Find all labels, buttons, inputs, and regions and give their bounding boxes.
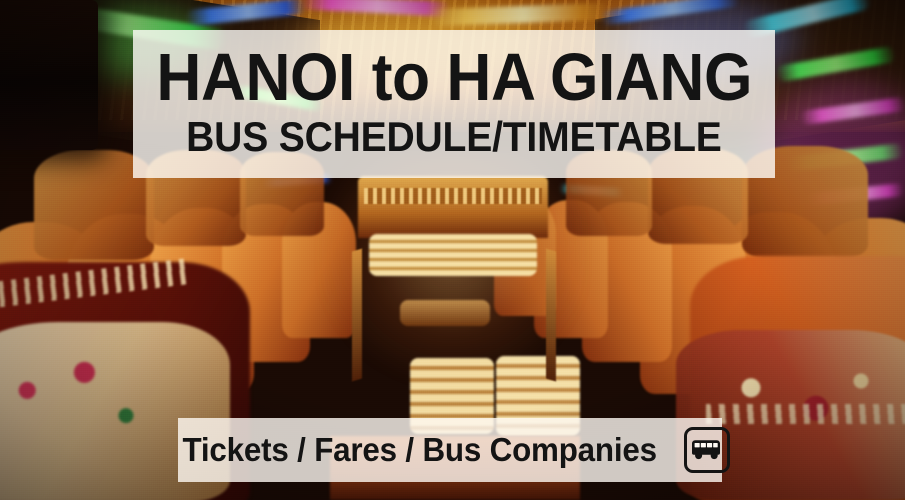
caption-label: Tickets / Fares / Bus Companies	[183, 431, 657, 469]
page-subtitle: BUS SCHEDULE/TIMETABLE	[186, 116, 722, 158]
promo-banner-image: HANOI to HA GIANG BUS SCHEDULE/TIMETABLE…	[0, 0, 905, 500]
caption-bar: Tickets / Fares / Bus Companies	[178, 418, 722, 482]
bus-icon	[684, 427, 730, 473]
page-title: HANOI to HA GIANG	[156, 46, 752, 110]
title-banner: HANOI to HA GIANG BUS SCHEDULE/TIMETABLE	[133, 30, 775, 178]
